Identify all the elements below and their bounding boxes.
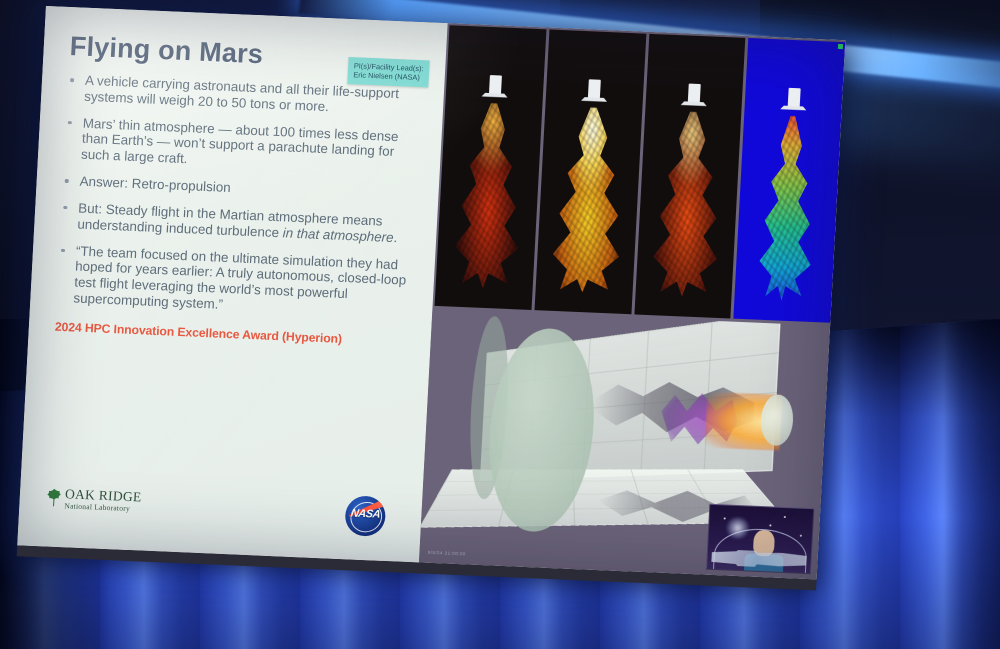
projection-screen: Flying on Mars PI(s)/Facility Lead(s): E… bbox=[17, 6, 845, 579]
capsule-nozzle-icon bbox=[780, 87, 807, 110]
slide-visualization-pane: 9/5/24 21:00:00 bbox=[419, 23, 845, 579]
retro-propulsion-plume-1 bbox=[435, 25, 547, 310]
plume-panel-row bbox=[433, 25, 845, 322]
screenshot-root: Flying on Mars PI(s)/Facility Lead(s): E… bbox=[0, 0, 1000, 649]
plume-flame-3 bbox=[646, 110, 731, 298]
bullet-text-5: “The team focused on the ultimate simula… bbox=[73, 243, 406, 312]
list-item: Mars’ thin atmosphere — about 100 times … bbox=[64, 115, 425, 178]
cfd-timestamp: 9/5/24 21:00:00 bbox=[428, 550, 466, 557]
mars-lander-retropropulsion-cfd: 9/5/24 21:00:00 bbox=[419, 309, 830, 579]
nasa-logo: NASA bbox=[345, 495, 387, 537]
ornl-logo: OAK RIDGE National Laboratory bbox=[45, 486, 142, 512]
capsule-nozzle-icon bbox=[482, 74, 509, 97]
slide-text-pane: Flying on Mars PI(s)/Facility Lead(s): E… bbox=[17, 6, 448, 562]
bullet-text-4-post: . bbox=[393, 230, 398, 245]
capsule-nozzle-icon bbox=[681, 83, 708, 106]
bullet-text-3: Answer: Retro-propulsion bbox=[79, 174, 231, 195]
plume-flame-4 bbox=[745, 114, 830, 302]
list-item: “The team focused on the ultimate simula… bbox=[56, 242, 417, 320]
plume-flame-2 bbox=[546, 106, 631, 294]
list-item: Answer: Retro-propulsion bbox=[62, 173, 421, 204]
pi-facility-lead-badge: PI(s)/Facility Lead(s): Eric Nielsen (NA… bbox=[347, 57, 430, 87]
retro-propulsion-plume-3 bbox=[634, 34, 746, 319]
retro-propulsion-plume-4 bbox=[734, 38, 846, 323]
presenter-video-inset bbox=[706, 504, 815, 574]
status-indicator-dot bbox=[838, 44, 843, 49]
curtain-right-shadow bbox=[940, 319, 1000, 649]
capsule-nozzle-icon bbox=[581, 79, 608, 102]
slide-canvas: Flying on Mars PI(s)/Facility Lead(s): E… bbox=[17, 6, 845, 579]
award-line: 2024 HPC Innovation Excellence Award (Hy… bbox=[55, 319, 414, 348]
oak-leaf-icon bbox=[45, 487, 62, 508]
bullet-list: A vehicle carrying astronauts and all th… bbox=[56, 72, 427, 321]
nasa-wordmark: NASA bbox=[345, 507, 387, 521]
cfd-capsule-body bbox=[760, 394, 794, 446]
bullet-text-2: Mars’ thin atmosphere — about 100 times … bbox=[81, 115, 399, 166]
plume-flame-1 bbox=[447, 101, 532, 289]
retro-propulsion-plume-2 bbox=[535, 30, 647, 315]
list-item: But: Steady flight in the Martian atmosp… bbox=[60, 200, 420, 247]
ornl-line-2: National Laboratory bbox=[64, 502, 141, 513]
ornl-logo-text: OAK RIDGE National Laboratory bbox=[64, 487, 142, 512]
slide-footer: OAK RIDGE National Laboratory NASA bbox=[44, 484, 409, 545]
badge-line-2: Eric Nielsen (NASA) bbox=[353, 70, 423, 82]
